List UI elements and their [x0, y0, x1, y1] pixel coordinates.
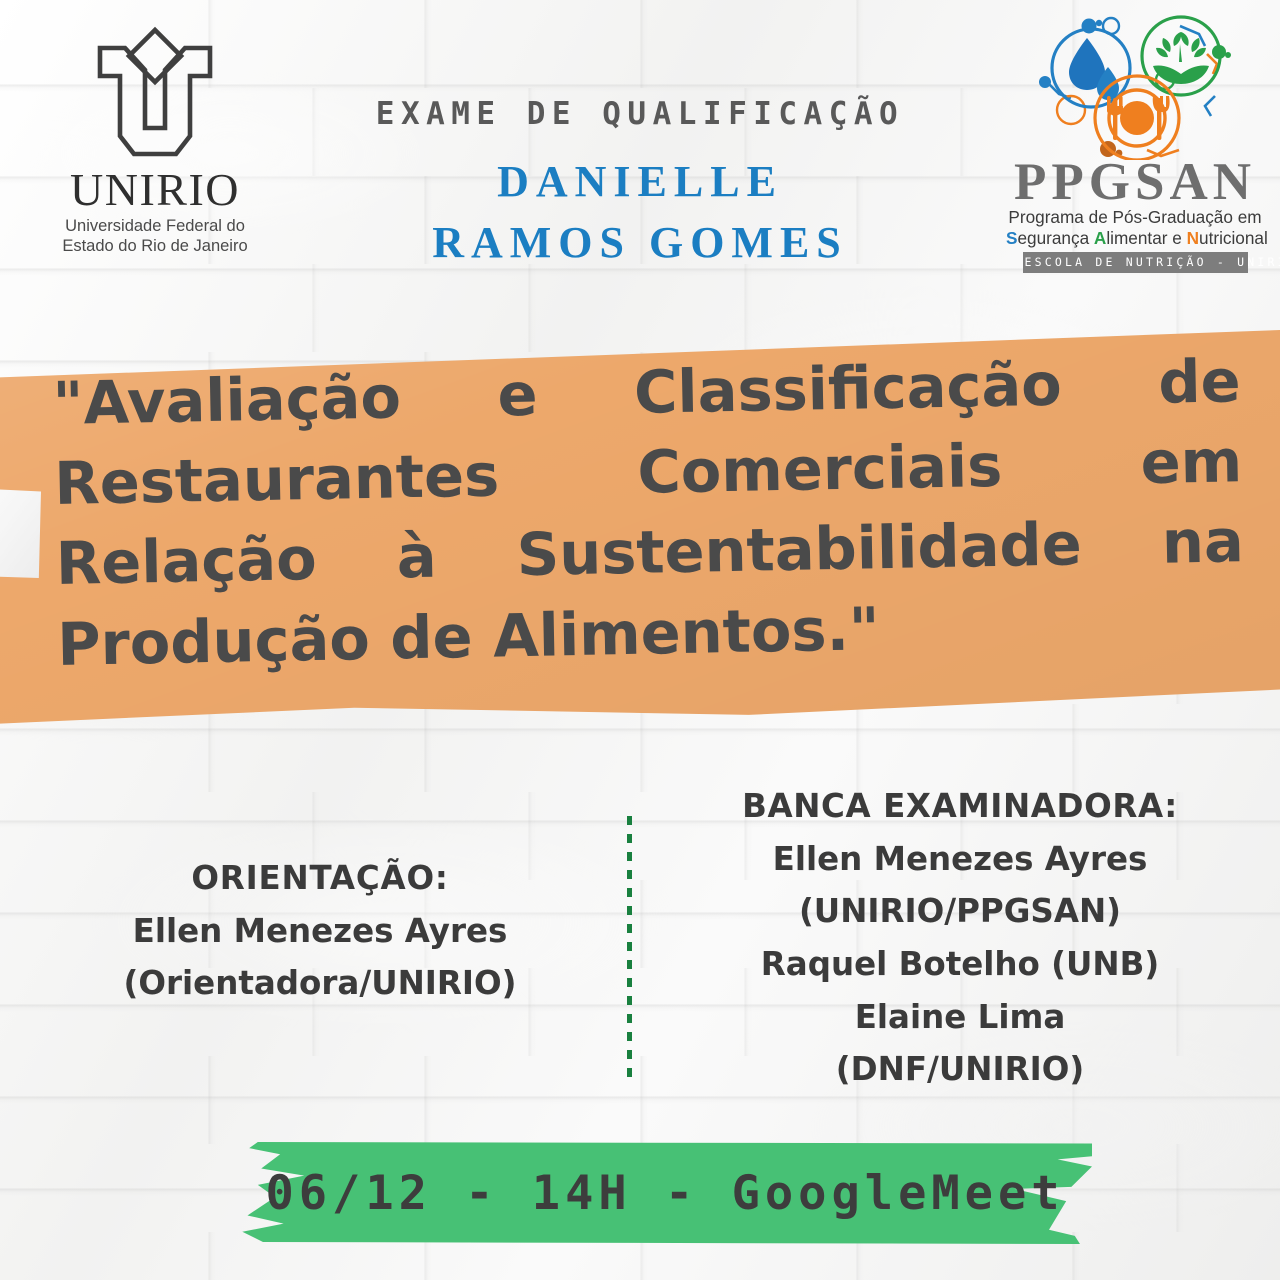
committee-member-name: Elaine Lima [680, 991, 1240, 1044]
ppgsan-tagline-line2: Segurança Alimentar e Nutricional [1006, 228, 1264, 248]
student-name: DANIELLE RAMOS GOMES [300, 152, 980, 273]
event-details-ribbon: 06/12 - 14H - GoogleMeet [232, 1142, 1092, 1244]
thesis-title: "Avaliação e Classificação de Restaurant… [52, 341, 1246, 685]
committee-member-name: Ellen Menezes Ayres [680, 833, 1240, 886]
ppgsan-school-band: ESCOLA DE NUTRIÇÃO - UNIRIO [1023, 252, 1248, 273]
advisor-block: ORIENTAÇÃO: Ellen Menezes Ayres (Orienta… [40, 852, 600, 1010]
committee-member-name: Raquel Botelho (UNB) [680, 938, 1240, 991]
dotted-vertical-divider [627, 816, 632, 1081]
committee-block: BANCA EXAMINADORA: Ellen Menezes Ayres (… [680, 780, 1240, 1096]
unirio-u-monogram-icon [86, 24, 224, 164]
unirio-subtitle-line2: Estado do Rio de Janeiro [30, 236, 280, 256]
ppgsan-tagline-line1: Programa de Pós-Graduação em [1006, 207, 1264, 227]
ppgsan-icon-cluster [1029, 10, 1241, 160]
ppgsan-logo: PPGSAN Programa de Pós-Graduação em Segu… [1006, 10, 1264, 273]
committee-member-affiliation: (DNF/UNIRIO) [680, 1043, 1240, 1096]
ppgsan-s-initial: S [1006, 228, 1017, 248]
event-poster: UNIRIO Universidade Federal do Estado do… [0, 0, 1280, 1280]
ppgsan-n-initial: N [1187, 228, 1199, 248]
committee-member-affiliation: (UNIRIO/PPGSAN) [680, 885, 1240, 938]
committee-heading: BANCA EXAMINADORA: [680, 780, 1240, 833]
ppgsan-seguranca-text: egurança [1017, 228, 1093, 248]
thesis-title-banner: "Avaliação e Classificação de Restaurant… [0, 318, 1280, 738]
unirio-wordmark: UNIRIO [30, 166, 280, 214]
student-name-line1: DANIELLE [300, 152, 980, 213]
advisor-heading: ORIENTAÇÃO: [40, 852, 600, 905]
advisor-affiliation: (Orientadora/UNIRIO) [40, 957, 600, 1010]
advisor-name: Ellen Menezes Ayres [40, 905, 600, 958]
unirio-subtitle-line1: Universidade Federal do [30, 216, 280, 236]
event-label: EXAME DE QUALIFICAÇÃO [300, 96, 980, 132]
ppgsan-acronym: PPGSAN [1006, 158, 1264, 207]
ppgsan-alimentar-text: limentar e [1106, 228, 1186, 248]
event-details-text: 06/12 - 14H - GoogleMeet [232, 1142, 1092, 1244]
unirio-logo: UNIRIO Universidade Federal do Estado do… [30, 24, 280, 257]
ppgsan-nutricional-text: utricional [1199, 228, 1268, 248]
student-name-line2: RAMOS GOMES [300, 213, 980, 274]
ppgsan-a-initial: A [1094, 228, 1106, 248]
